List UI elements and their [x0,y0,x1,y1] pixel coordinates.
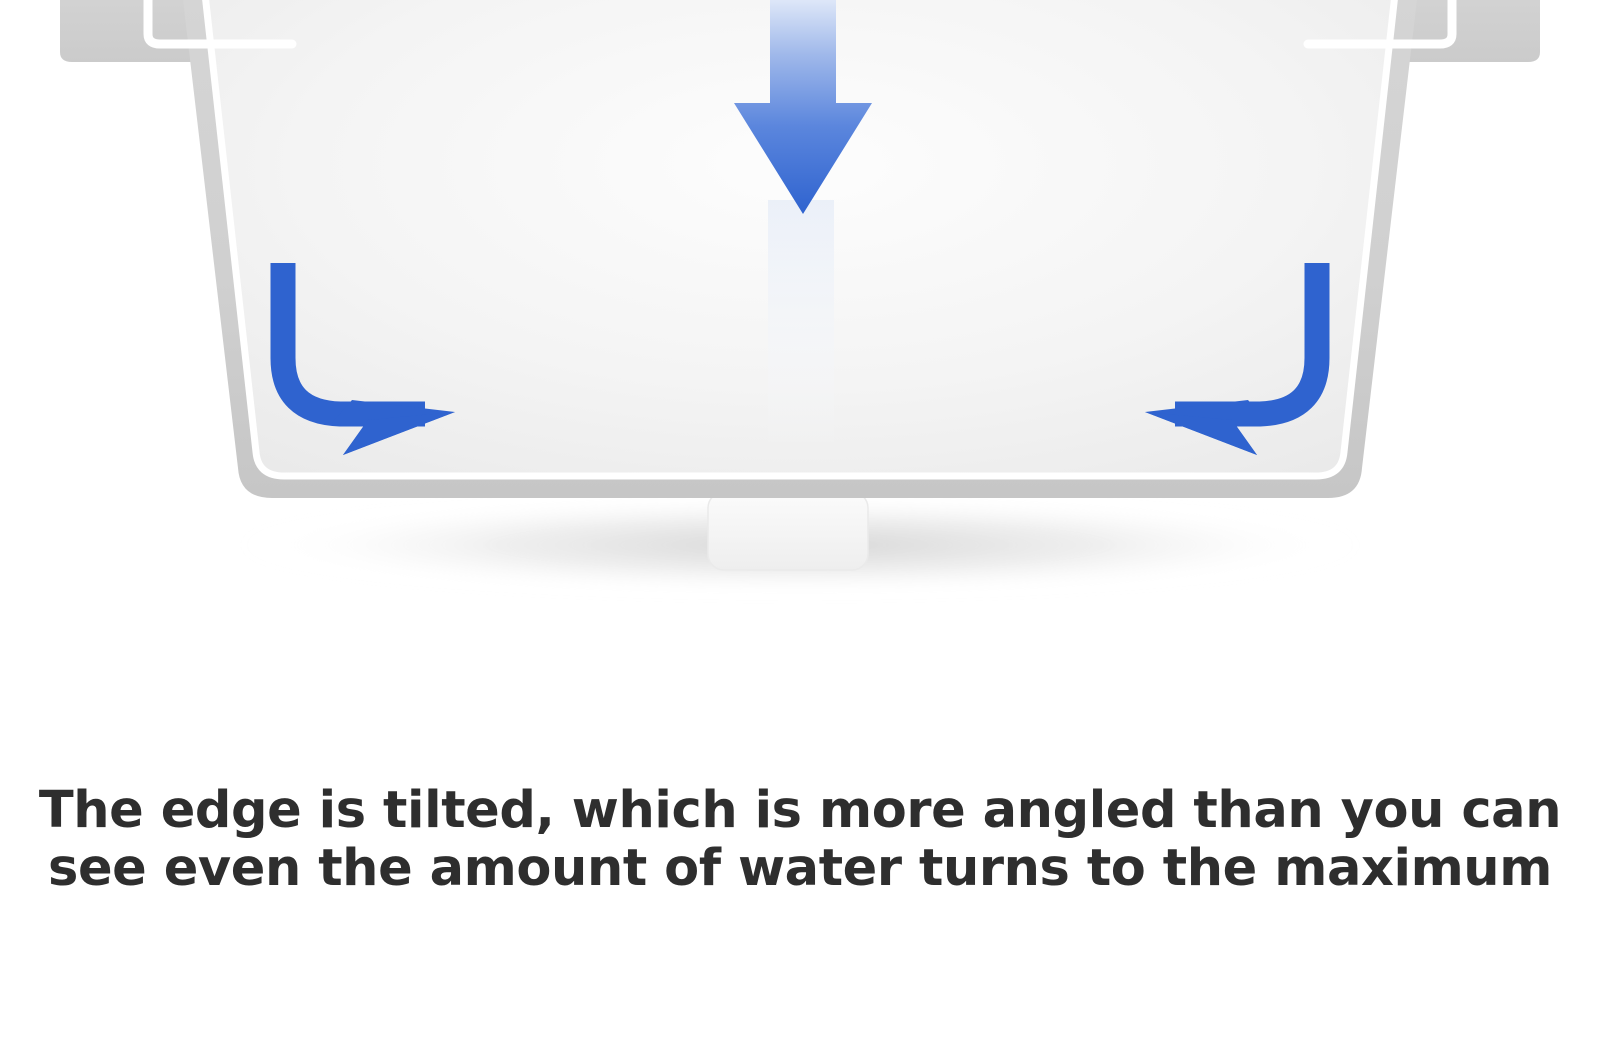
drain-tab [708,492,868,570]
tilted-basin-illustration [0,0,1600,640]
caption-block: The edge is tilted, which is more angled… [0,782,1600,898]
page-root: The edge is tilted, which is more angled… [0,0,1600,1041]
caption-line-1: The edge is tilted, which is more angled… [0,782,1600,840]
water-stream [768,200,834,450]
basin-diagram-svg [0,0,1600,640]
caption-line-2: see even the amount of water turns to th… [0,840,1600,898]
